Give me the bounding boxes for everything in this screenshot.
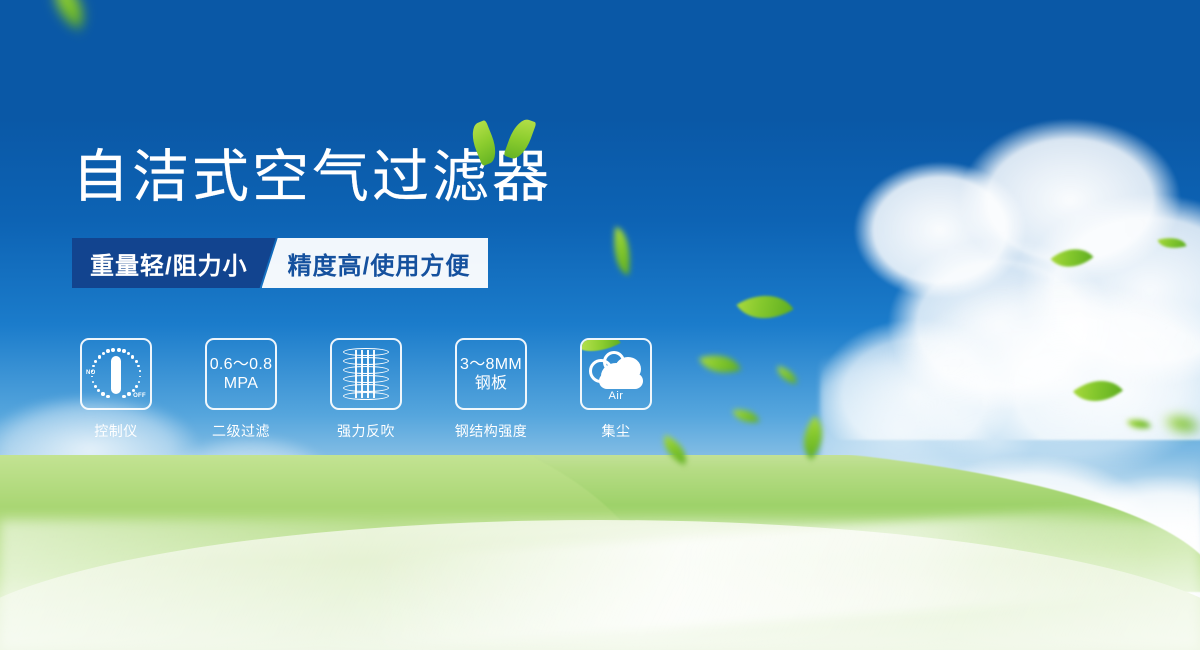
dial-dot — [98, 355, 101, 358]
dial-dot — [106, 395, 110, 399]
pressure-text-icon: 0.6～0.8 MPA — [205, 338, 277, 410]
dial-dot — [97, 389, 100, 392]
dial-label-off: OFF — [133, 393, 146, 399]
dial-dot — [135, 385, 138, 388]
subtitle-bar: 重量轻/阻力小 精度高/使用方便 — [72, 238, 488, 288]
stack-ring — [343, 348, 389, 356]
leaf-icon — [1127, 416, 1151, 433]
feature-item-dust[interactable]: Air 集尘 — [580, 338, 652, 441]
leaf-icon — [736, 280, 793, 333]
leaf-icon — [699, 347, 741, 381]
feature-item-control[interactable]: NO OFF 控制仪 — [80, 338, 152, 441]
sprout-leaves-icon — [470, 112, 540, 164]
cloud-swirl — [603, 351, 625, 373]
dial-dot — [106, 349, 110, 353]
dial-dot — [139, 376, 141, 378]
feature-label: 集尘 — [602, 421, 631, 441]
filter-stack-icon — [330, 338, 402, 410]
leaf-icon — [1165, 410, 1198, 438]
dial-dot — [132, 389, 135, 392]
dial-dot — [111, 348, 115, 352]
stack-ring — [343, 375, 389, 383]
feature-label: 强力反吹 — [337, 421, 395, 441]
dial-dot — [137, 365, 139, 367]
dial-dot — [94, 385, 97, 388]
leaf-icon — [733, 406, 759, 426]
dial-dot — [92, 381, 94, 383]
sprout-leaf-left — [467, 120, 501, 166]
dial-dot — [102, 352, 105, 355]
dial-dot — [101, 392, 104, 395]
sprout-leaf-right — [503, 116, 536, 162]
stack-ring — [343, 392, 389, 400]
leaf-icon — [42, 0, 95, 30]
air-cloud-graphic: Air — [587, 349, 645, 399]
dial-dot — [138, 381, 140, 383]
dial-dot — [122, 349, 126, 353]
dial-dot — [135, 360, 138, 363]
dial-dot — [139, 370, 141, 372]
stack-ring — [343, 357, 389, 365]
control-dial-icon: NO OFF — [80, 338, 152, 410]
air-cloud-icon: Air — [580, 338, 652, 410]
cloud-right — [820, 110, 1200, 440]
dial-dot — [127, 392, 130, 395]
grass-field — [0, 455, 1200, 650]
pressure-value: 0.6～0.8 — [210, 355, 273, 374]
feature-item-blowback[interactable]: 强力反吹 — [330, 338, 402, 441]
steel-plate-text-icon: 3～8MM 钢板 — [455, 338, 527, 410]
subtitle-segment-right: 精度高/使用方便 — [262, 238, 489, 288]
grass-sheen — [0, 520, 1200, 650]
leaf-icon — [1158, 233, 1187, 254]
steel-material: 钢板 — [460, 374, 522, 393]
feature-label: 控制仪 — [94, 421, 138, 441]
subtitle-segment-left: 重量轻/阻力小 — [72, 238, 276, 288]
stack-ring — [343, 384, 389, 392]
leaf-icon — [609, 227, 635, 275]
dial-dot — [127, 352, 130, 355]
dial-needle — [111, 356, 121, 394]
leaf-icon — [775, 366, 799, 384]
dial-dot — [122, 395, 126, 399]
filter-stack-graphic — [343, 348, 389, 400]
leaf-icon — [791, 416, 834, 460]
dial-dot — [92, 365, 94, 367]
feature-item-pressure[interactable]: 0.6～0.8 MPA 二级过滤 — [205, 338, 277, 441]
dial-dot — [117, 348, 121, 352]
air-label: Air — [587, 390, 645, 402]
leaf-icon — [1051, 237, 1094, 279]
dial-graphic: NO OFF — [86, 344, 146, 404]
dial-dot — [131, 355, 134, 358]
stack-ring — [343, 366, 389, 374]
dial-dot — [91, 376, 93, 378]
feature-label: 二级过滤 — [212, 421, 270, 441]
feature-list: NO OFF 控制仪 0.6～0.8 MPA 二级过滤 — [80, 338, 652, 441]
leaf-icon — [1073, 367, 1123, 415]
pressure-unit: MPA — [210, 374, 273, 393]
hero-banner: 自洁式空气过滤器 重量轻/阻力小 精度高/使用方便 NO OFF 控制仪 0.6… — [0, 0, 1200, 650]
feature-item-steel[interactable]: 3～8MM 钢板 钢结构强度 — [455, 338, 527, 441]
dial-dot — [94, 360, 97, 363]
steel-thickness: 3～8MM — [460, 355, 522, 374]
feature-label: 钢结构强度 — [455, 421, 528, 441]
